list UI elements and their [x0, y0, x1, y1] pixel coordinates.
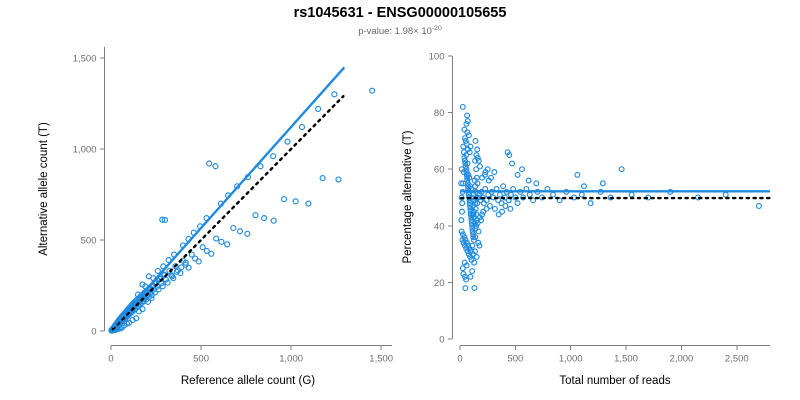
x-tick-label: 1,500	[369, 354, 393, 365]
data-point	[470, 269, 475, 274]
data-point	[459, 218, 464, 223]
right-x-axis-ticks: 05001,0001,5002,0002,500	[457, 346, 748, 365]
y-tick-label: 1,000	[73, 144, 97, 155]
data-point	[619, 167, 624, 172]
y-tick-label: 1,500	[73, 53, 97, 64]
data-point	[472, 286, 477, 291]
data-point	[588, 201, 593, 206]
data-point	[370, 88, 375, 93]
data-point	[629, 192, 634, 197]
data-point	[186, 265, 191, 270]
data-point	[306, 201, 311, 206]
data-point	[316, 106, 321, 111]
data-point	[510, 161, 515, 166]
data-point	[468, 274, 473, 279]
data-point	[209, 251, 214, 256]
right-x-axis-label: Total number of reads	[559, 375, 670, 387]
y-tick-label: 0	[91, 327, 96, 338]
data-point	[179, 265, 184, 270]
identity-reference-line	[113, 96, 344, 329]
pvalue-subtitle: p-value: 1.98× 10-20	[358, 25, 442, 37]
pvalue-prefix: p-value: 1.98× 10	[358, 26, 432, 37]
left-y-axis-label: Alternative allele count (T)	[38, 122, 50, 256]
left-x-axis-ticks: 05001,0001,500	[108, 346, 393, 365]
y-tick-label: 500	[81, 235, 97, 246]
pvalue-exponent: -20	[432, 25, 442, 32]
data-point	[237, 229, 242, 234]
x-tick-label: 0	[457, 354, 462, 365]
data-point	[520, 167, 525, 172]
data-point	[245, 231, 250, 236]
data-point	[526, 178, 531, 183]
data-point	[207, 161, 212, 166]
x-tick-label: 500	[193, 354, 209, 365]
data-point	[579, 192, 584, 197]
left-y-axis-ticks: 05001,0001,500	[73, 53, 105, 337]
y-tick-label: 80	[434, 108, 445, 119]
data-point	[460, 105, 465, 110]
data-point	[463, 286, 468, 291]
y-tick-label: 60	[434, 165, 445, 176]
data-point	[271, 154, 276, 159]
data-point	[213, 164, 218, 169]
data-point	[476, 229, 481, 234]
x-tick-label: 500	[507, 354, 523, 365]
data-point	[484, 206, 489, 211]
x-tick-label: 1,000	[279, 354, 303, 365]
data-point	[508, 206, 513, 211]
data-point	[503, 204, 508, 209]
left-plot-points	[109, 88, 375, 333]
y-tick-label: 100	[429, 52, 445, 63]
page-title: rs1045631 - ENSG00000105655	[294, 5, 507, 21]
data-point	[480, 175, 485, 180]
left-x-axis-label: Reference allele count (G)	[181, 375, 315, 387]
data-point	[551, 192, 556, 197]
data-point	[293, 199, 298, 204]
data-point	[336, 177, 341, 182]
x-tick-label: 1,500	[614, 354, 638, 365]
data-point	[492, 206, 497, 211]
y-tick-label: 40	[434, 221, 445, 232]
data-point	[253, 213, 258, 218]
y-tick-label: 20	[434, 278, 445, 289]
data-point	[582, 184, 587, 189]
regression-fit-line	[112, 67, 344, 327]
data-point	[462, 127, 467, 132]
data-point	[225, 242, 230, 247]
right-y-axis-ticks: 020406080100	[429, 52, 453, 346]
data-point	[575, 172, 580, 177]
data-point	[299, 125, 304, 130]
data-point	[509, 192, 514, 197]
data-point	[527, 192, 532, 197]
right-y-axis-label: Percentage alternative (T)	[402, 130, 414, 263]
data-point	[723, 192, 728, 197]
data-point	[271, 218, 276, 223]
data-point	[214, 236, 219, 241]
data-point	[515, 172, 520, 177]
data-point	[497, 192, 502, 197]
data-point	[478, 164, 483, 169]
data-point	[534, 181, 539, 186]
x-tick-label: 2,500	[725, 354, 749, 365]
x-tick-label: 1,000	[559, 354, 583, 365]
y-tick-label: 0	[439, 335, 444, 346]
data-point	[501, 184, 506, 189]
data-point	[492, 170, 497, 175]
data-point	[332, 92, 337, 97]
data-point	[473, 139, 478, 144]
data-point	[757, 204, 762, 209]
x-tick-label: 0	[108, 354, 113, 365]
figure-canvas: rs1045631 - ENSG00000105655 p-value: 1.9…	[0, 0, 800, 400]
data-point	[219, 239, 224, 244]
data-point	[474, 255, 479, 260]
data-point	[465, 113, 470, 118]
data-point	[155, 268, 160, 273]
data-point	[262, 216, 267, 221]
data-point	[500, 209, 505, 214]
data-point	[475, 147, 480, 152]
x-tick-label: 2,000	[670, 354, 694, 365]
right-scatter-panel: 020406080100 05001,0001,5002,0002,500 To…	[402, 52, 770, 388]
data-point	[460, 209, 465, 214]
data-point	[231, 225, 236, 230]
data-point	[481, 201, 486, 206]
data-point	[282, 197, 287, 202]
data-point	[320, 176, 325, 181]
left-scatter-panel: 05001,0001,500 05001,0001,500 Reference …	[38, 47, 393, 387]
data-point	[460, 201, 465, 206]
data-point	[600, 181, 605, 186]
data-point	[285, 139, 290, 144]
data-point	[196, 259, 201, 264]
data-point	[515, 201, 520, 206]
